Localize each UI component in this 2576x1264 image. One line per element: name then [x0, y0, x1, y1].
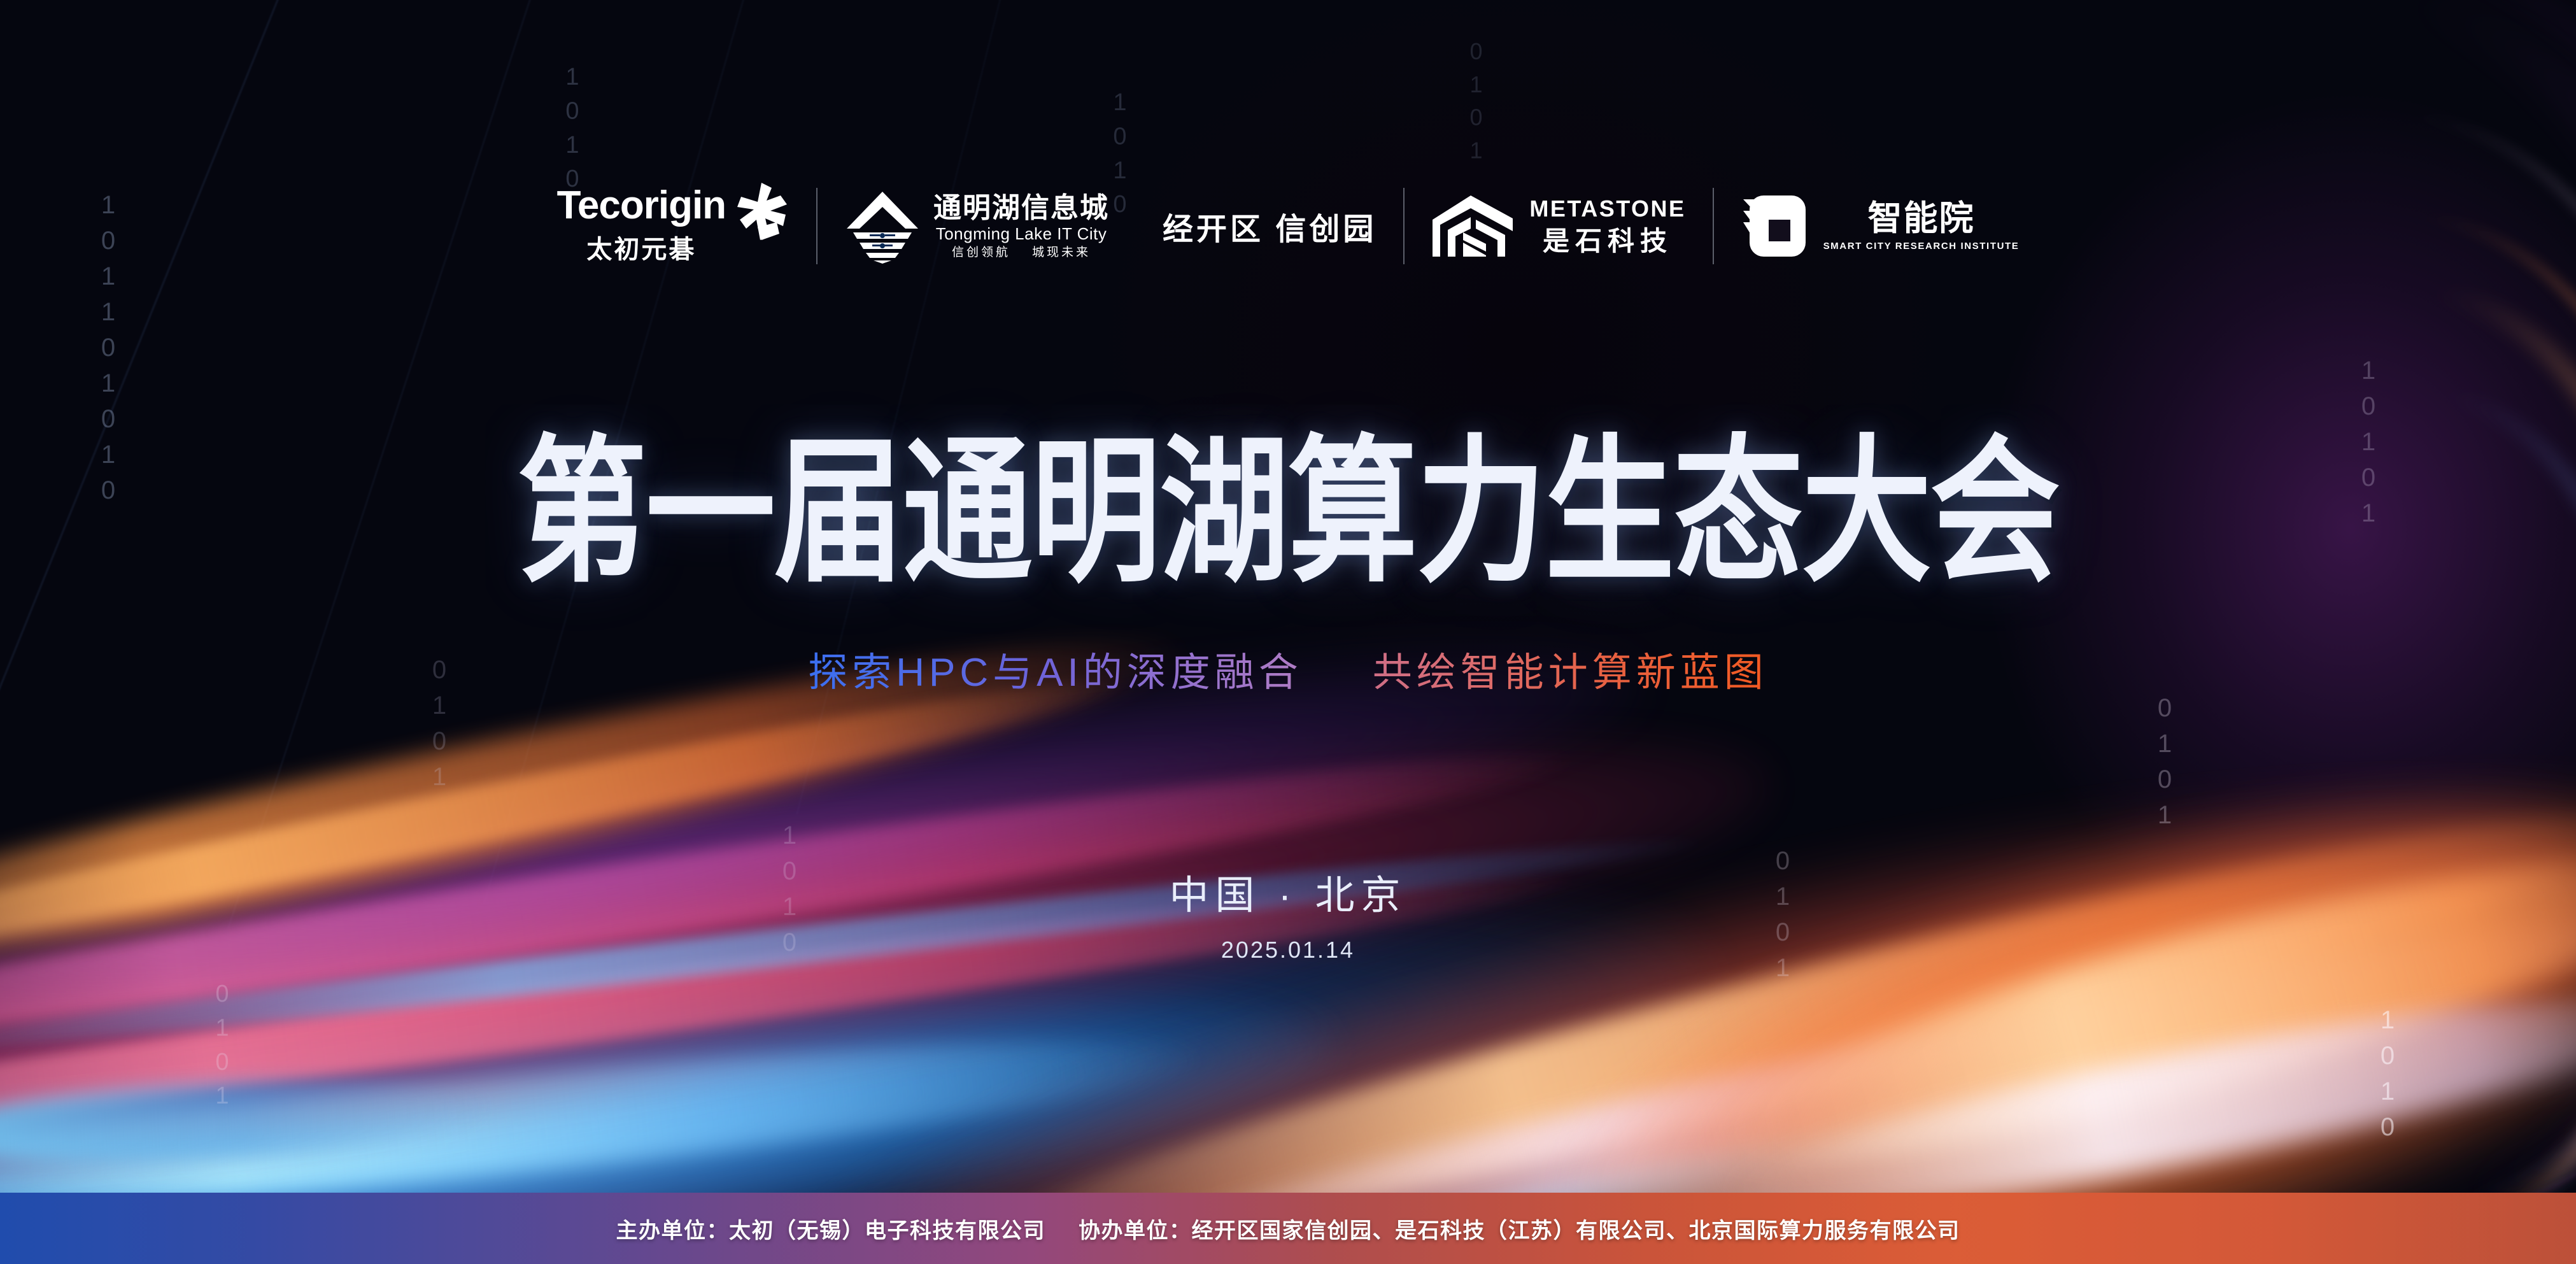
logo-tongming-lake-it-city[interactable]: 通明湖信息城 Tongming Lake IT City 信创领航 城现未来 [817, 178, 1136, 274]
institute-name-cn: 智能院 [1867, 201, 1974, 236]
institute-name-en: SMART CITY RESEARCH INSTITUTE [1823, 241, 2020, 251]
organizer-footer-bar: 主办单位：太初（无锡）电子科技有限公司协办单位：经开区国家信创园、是石科技（江苏… [0, 1193, 2576, 1264]
tecorigin-name-en: Tecorigin [557, 187, 726, 225]
event-title: 第一届通明湖算力生态大会 [39, 434, 2538, 592]
book-square-mark-icon [1741, 192, 1809, 260]
logo-metastone[interactable]: METASTONE 是石科技 [1405, 178, 1712, 274]
sponsor-logo-bar: Tecorigin 太初元碁 [0, 162, 2576, 290]
bird-mark-icon [732, 181, 789, 250]
conference-banner: 101101010 1010 1010 0101 1010 0101 10101… [0, 0, 2576, 1264]
event-subtitle-left: 探索HPC与AI的深度融合 [808, 648, 1302, 698]
tecorigin-name-cn: 太初元碁 [586, 229, 696, 266]
tongming-name-cn: 通明湖信息城 [933, 194, 1109, 222]
event-location-block: 中国 · 北京 2025.01.14 [0, 863, 2576, 963]
logo-smart-city-research-institute[interactable]: 智能院 SMART CITY RESEARCH INSTITUTE [1714, 178, 2046, 274]
pyramid-mark-icon [844, 188, 921, 264]
logo-xinchuang-park[interactable]: 经开区 信创园 [1136, 178, 1403, 274]
tongming-slogan: 信创领航 城现未来 [952, 246, 1091, 259]
tongming-slogan-part-1: 信创领航 [952, 246, 1010, 259]
metastone-name-en: METASTONE [1529, 197, 1685, 220]
host-label: 主办单位： [616, 1219, 730, 1243]
tongming-slogan-part-2: 城现未来 [1032, 246, 1091, 259]
xinchuang-park-name: 经开区 信创园 [1163, 204, 1376, 248]
metastone-name-cn: 是石科技 [1543, 228, 1673, 255]
event-location: 中国 · 北京 [0, 863, 2576, 920]
tongming-name-en: Tongming Lake IT City [936, 225, 1107, 242]
event-date: 2025.01.14 [0, 937, 2576, 963]
logo-tecorigin[interactable]: Tecorigin 太初元碁 [530, 178, 816, 274]
event-subtitle: 探索HPC与AI的深度融合 共绘智能计算新蓝图 [0, 648, 2576, 698]
organizer-footer-text: 主办单位：太初（无锡）电子科技有限公司协办单位：经开区国家信创园、是石科技（江苏… [616, 1213, 1960, 1244]
host-value: 太初（无锡）电子科技有限公司 [729, 1219, 1045, 1243]
cohost-label: 协办单位： [1079, 1219, 1192, 1243]
building-mark-icon [1431, 193, 1515, 259]
event-subtitle-right: 共绘智能计算新蓝图 [1373, 648, 1768, 698]
cohost-value: 经开区国家信创园、是石科技（江苏）有限公司、北京国际算力服务有限公司 [1192, 1219, 1960, 1243]
